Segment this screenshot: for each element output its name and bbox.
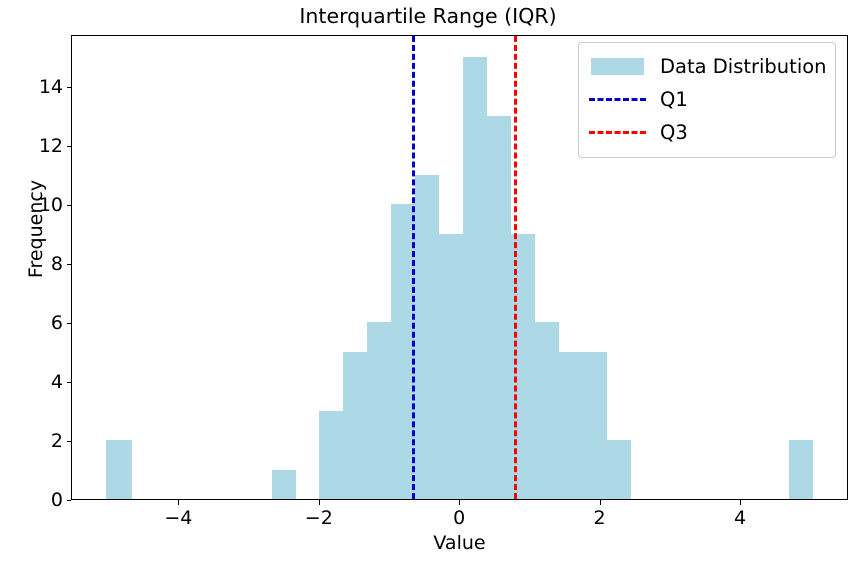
chart-title: Interquartile Range (IQR) [0, 4, 856, 28]
histogram-bar [272, 470, 296, 499]
histogram-bar [607, 440, 631, 499]
histogram-figure: Interquartile Range (IQR) Value Frequenc… [0, 0, 856, 564]
histogram-bar [559, 352, 583, 499]
y-tick [67, 500, 72, 501]
histogram-bar [463, 57, 487, 499]
histogram-bar [439, 234, 463, 499]
x-tick [178, 500, 179, 505]
chart-legend: Data DistributionQ1Q3 [578, 42, 836, 158]
y-tick [67, 205, 72, 206]
legend-label: Data Distribution [660, 57, 827, 77]
legend-dashed-line-icon [589, 98, 646, 101]
x-tick [319, 500, 320, 505]
x-tick-label: 0 [453, 507, 465, 529]
y-tick-label: 12 [39, 135, 63, 157]
legend-item[interactable]: Q1 [588, 83, 826, 116]
legend-item[interactable]: Q3 [588, 116, 826, 149]
legend-key [588, 50, 647, 83]
legend-swatch-icon [591, 58, 644, 75]
histogram-bar [789, 440, 813, 499]
vline-q3 [514, 36, 517, 499]
y-tick [67, 441, 72, 442]
histogram-bar [319, 411, 343, 499]
y-tick [67, 146, 72, 147]
x-tick-label: −4 [164, 507, 192, 529]
y-tick-label: 2 [51, 430, 63, 452]
legend-item[interactable]: Data Distribution [588, 50, 826, 83]
histogram-bar [106, 440, 132, 499]
x-tick-label: 4 [734, 507, 746, 529]
y-tick-label: 4 [51, 371, 63, 393]
y-tick-label: 8 [51, 253, 63, 275]
x-tick [459, 500, 460, 505]
y-tick-label: 6 [51, 312, 63, 334]
y-tick [67, 382, 72, 383]
legend-dashed-line-icon [589, 131, 646, 134]
legend-label: Q1 [660, 90, 688, 110]
y-tick-label: 14 [39, 76, 63, 98]
histogram-bar [415, 175, 439, 499]
x-tick-label: 2 [594, 507, 606, 529]
y-tick-label: 0 [51, 489, 63, 511]
y-tick [67, 264, 72, 265]
y-tick [67, 87, 72, 88]
x-axis-label: Value [71, 532, 848, 554]
histogram-bar [343, 352, 367, 499]
x-tick [600, 500, 601, 505]
legend-label: Q3 [660, 123, 688, 143]
histogram-bar [367, 322, 391, 499]
histogram-bar [535, 322, 559, 499]
legend-key [588, 116, 647, 149]
y-tick-label: 10 [39, 194, 63, 216]
histogram-bar [487, 116, 511, 499]
legend-key [588, 83, 647, 116]
histogram-bar [583, 352, 607, 499]
x-tick [740, 500, 741, 505]
x-tick-label: −2 [305, 507, 333, 529]
vline-q1 [412, 36, 415, 499]
y-tick [67, 323, 72, 324]
